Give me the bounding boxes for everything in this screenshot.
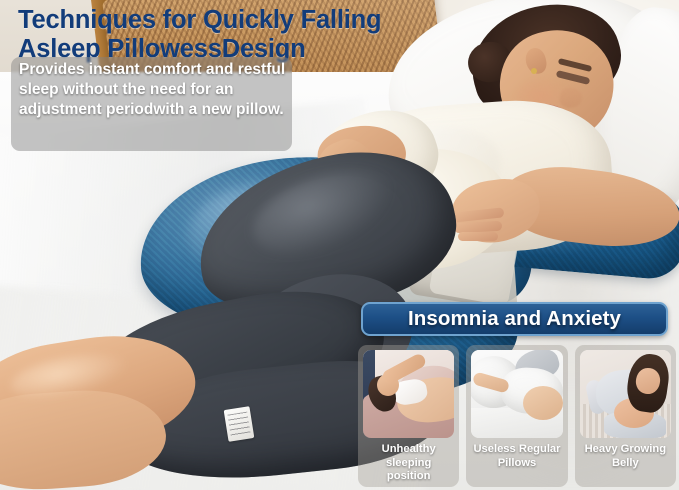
insomnia-banner: Insomnia and Anxiety [361,302,668,336]
card-caption: Unhealthy sleeping position [363,443,454,484]
card-thumbnail-unhealthy-sleeping-position [363,350,454,438]
problem-cards: Unhealthy sleeping position Useless Regu… [358,345,676,487]
subtext: Provides instant comfort and restful sle… [19,60,287,120]
problem-card[interactable]: Useless Regular Pillows [466,345,567,487]
insomnia-banner-label: Insomnia and Anxiety [408,307,621,331]
card-thumbnail-heavy-growing-belly [580,350,671,438]
card-caption: Heavy Growing Belly [580,443,671,470]
problem-card[interactable]: Heavy Growing Belly [575,345,676,487]
earring [531,68,537,74]
finger [458,232,498,241]
card-caption: Useless Regular Pillows [471,443,562,470]
card-thumbnail-useless-regular-pillows [471,350,562,438]
headline: Techniques for Quickly Falling Asleep Pi… [18,6,448,63]
product-banner: Techniques for Quickly Falling Asleep Pi… [0,0,679,490]
problem-card[interactable]: Unhealthy sleeping position [358,345,459,487]
care-label-tag [224,406,255,442]
